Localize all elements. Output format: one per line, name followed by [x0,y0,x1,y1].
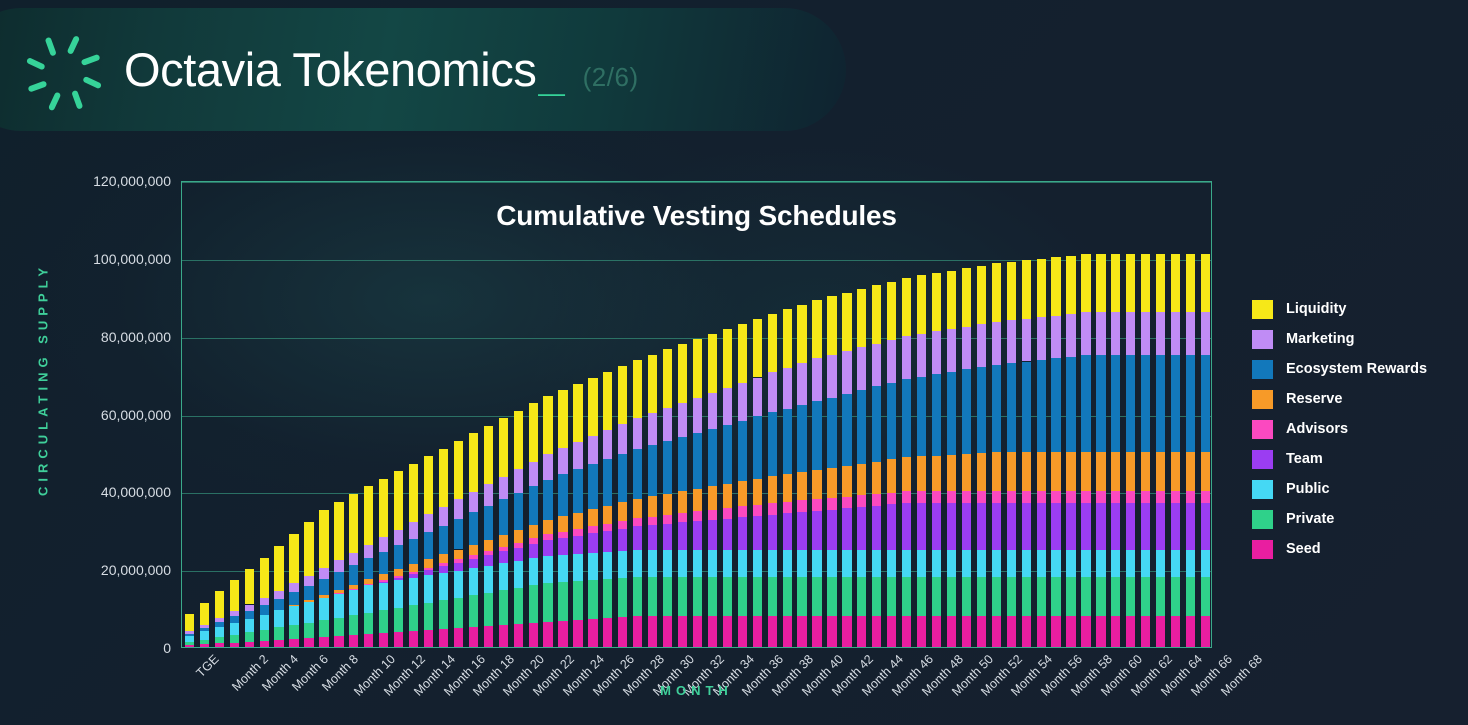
bar-segment [618,502,627,521]
bar-segment [1201,503,1210,550]
bar-segment [1156,616,1165,647]
bar-stack[interactable] [573,180,582,647]
bar-stack[interactable] [424,180,433,647]
bar-segment [1126,503,1135,550]
bar-segment [663,441,672,494]
bar-segment [1051,316,1060,359]
bar-segment [753,319,762,377]
bar-segment [424,630,433,647]
bar-segment [304,623,313,638]
legend-item[interactable]: Marketing [1252,324,1468,354]
bar-segment [768,372,777,412]
bar-segment [1186,550,1195,577]
bar-stack[interactable] [678,180,687,647]
bar-stack[interactable] [245,180,254,647]
bar-segment [812,358,821,401]
bar-segment [1007,363,1016,452]
bar-segment [783,577,792,616]
bar-stack[interactable] [529,180,538,647]
bar-segment [469,492,478,513]
bar-segment [394,580,403,607]
bar-segment [902,550,911,577]
bar-segment [1007,320,1016,363]
bar-segment [573,536,582,554]
bar-segment [319,598,328,620]
bar-segment [603,372,612,430]
bar-segment [364,634,373,647]
bar-segment [304,638,313,647]
bar-stack[interactable] [693,180,702,647]
bar-segment [200,640,209,645]
bar-segment [768,412,777,476]
bar-segment [693,398,702,433]
bar-segment [334,618,343,636]
bar-segment [289,639,298,647]
bar-segment [887,577,896,616]
bar-stack[interactable] [842,180,851,647]
bar-segment [708,577,717,616]
bar-segment [857,347,866,390]
bar-segment [992,503,1001,550]
bar-segment [185,636,194,643]
legend-item[interactable]: Liquidity [1252,294,1468,324]
bar-segment [1201,312,1210,355]
bar-segment [245,611,254,619]
bar-segment [543,556,552,583]
bar-segment [409,464,418,522]
bar-segment [783,368,792,409]
bar-segment [454,559,463,563]
bar-segment [1081,616,1090,647]
bar-stack[interactable] [1171,180,1180,647]
bar-stack[interactable] [827,180,836,647]
bar-segment [932,331,941,374]
bar-segment [274,599,283,610]
bar-stack[interactable] [857,180,866,647]
bar-segment [917,275,926,333]
bar-segment [484,551,493,555]
bar-stack[interactable] [304,180,313,647]
bar-segment [887,459,896,492]
bar-stack[interactable] [185,180,194,647]
bar-segment [394,545,403,569]
bar-segment [514,588,523,624]
bar-stack[interactable] [768,180,777,647]
bar-segment [872,506,881,550]
bar-segment [1111,550,1120,577]
bar-segment [1111,577,1120,616]
bar-segment [962,454,971,491]
bar-segment [1022,319,1031,362]
bar-segment [260,641,269,647]
bar-stack[interactable] [588,180,597,647]
bar-segment [693,550,702,577]
bar-segment [424,603,433,630]
bar-segment [394,632,403,647]
bar-segment [215,618,224,622]
legend-swatch [1252,420,1273,439]
bar-segment [618,578,627,617]
bar-segment [902,457,911,491]
bar-segment [1126,355,1135,452]
bar-segment [633,550,642,577]
bar-segment [454,499,463,519]
bar-stack[interactable] [215,180,224,647]
bar-segment [484,626,493,647]
bar-segment [1066,577,1075,616]
bar-stack[interactable] [783,180,792,647]
bar-segment [1186,616,1195,647]
bar-segment [603,618,612,647]
legend-item[interactable]: Team [1252,444,1468,474]
bar-stack[interactable] [618,180,627,647]
bar-segment [1111,503,1120,550]
bar-stack[interactable] [812,180,821,647]
bar-segment [379,479,388,537]
bar-segment [902,336,911,379]
bar-segment [1141,355,1150,452]
bar-segment [364,558,373,579]
bar-segment [1066,491,1075,503]
legend-item[interactable]: Advisors [1252,414,1468,444]
y-axis-tick-label: 60,000,000 [31,407,181,423]
bar-series-container [182,182,1211,647]
bar-segment [543,454,552,479]
bar-segment [1096,577,1105,616]
bar-stack[interactable] [558,180,567,647]
bar-segment [753,550,762,577]
bar-segment [185,645,194,647]
bar-segment [1066,503,1075,550]
bar-segment [200,631,209,640]
bar-segment [215,637,224,643]
bar-segment [409,578,418,605]
bar-segment [753,516,762,550]
bar-stack[interactable] [872,180,881,647]
bar-segment [753,616,762,647]
bar-segment [439,526,448,555]
slide-progress: (2/6) [583,62,639,93]
bar-segment [185,642,194,645]
bar-segment [558,582,567,621]
bar-segment [454,563,463,571]
bar-segment [1037,577,1046,616]
bar-stack[interactable] [633,180,642,647]
bar-stack[interactable] [753,180,762,647]
bar-segment [215,591,224,618]
bar-segment [558,555,567,582]
bar-segment [962,369,971,454]
bar-segment [902,491,911,503]
bar-stack[interactable] [469,180,478,647]
bar-segment [245,632,254,641]
bar-segment [1156,312,1165,355]
bar-stack[interactable] [349,180,358,647]
bar-stack[interactable] [977,180,986,647]
bar-segment [1081,452,1090,491]
bar-segment [842,351,851,394]
bar-segment [1007,491,1016,503]
bar-stack[interactable] [334,180,343,647]
bar-stack[interactable] [543,180,552,647]
bar-segment [499,625,508,647]
bar-stack[interactable] [409,180,418,647]
bar-segment [678,513,687,522]
bar-segment [289,625,298,639]
bar-segment [454,571,463,598]
bar-segment [200,628,209,632]
bar-segment [663,349,672,407]
bar-segment [1007,616,1016,647]
bar-segment [529,623,538,647]
bar-segment [439,629,448,647]
bar-segment [558,538,567,555]
bar-segment [902,379,911,457]
bar-stack[interactable] [708,180,717,647]
bar-segment [827,498,836,510]
bar-segment [1111,254,1120,312]
bar-segment [1066,314,1075,357]
bar-stack[interactable] [260,180,269,647]
bar-segment [304,576,313,586]
bar-segment [514,493,523,530]
bar-segment [872,386,881,461]
bar-segment [1156,491,1165,503]
bar-segment [439,566,448,572]
bar-segment [215,622,224,627]
bar-stack[interactable] [917,180,926,647]
bar-segment [797,616,806,647]
bar-segment [603,531,612,552]
bar-segment [364,579,373,584]
bar-segment [1201,254,1210,312]
bar-segment [349,635,358,647]
legend-item[interactable]: Private [1252,504,1468,534]
legend-item[interactable]: Reserve [1252,384,1468,414]
header-banner: Octavia Tokenomics _ (2/6) [0,8,846,131]
bar-segment [783,474,792,502]
bar-stack[interactable] [230,180,239,647]
bar-stack[interactable] [1007,180,1016,647]
bar-segment [1037,452,1046,491]
bar-segment [1066,616,1075,647]
legend-item[interactable]: Public [1252,474,1468,504]
bar-segment [678,522,687,549]
bar-stack[interactable] [603,180,612,647]
bar-stack[interactable] [364,180,373,647]
bar-segment [977,367,986,453]
bar-segment [1171,550,1180,577]
legend-item-label: Ecosystem Rewards [1286,361,1427,377]
bar-segment [289,606,298,625]
bar-stack[interactable] [319,180,328,647]
bar-stack[interactable] [992,180,1001,647]
bar-segment [678,403,687,437]
bar-segment [633,526,642,549]
bar-stack[interactable] [738,180,747,647]
bar-segment [1186,452,1195,491]
bar-segment [738,324,747,382]
bar-segment [693,616,702,647]
bar-segment [962,327,971,370]
bar-segment [842,508,851,550]
bar-segment [812,499,821,511]
bar-segment [603,579,612,618]
bar-segment [334,590,343,593]
bar-segment [289,605,298,606]
bar-segment [1081,550,1090,577]
legend-item-label: Marketing [1286,331,1355,347]
bar-stack[interactable] [200,180,209,647]
bar-segment [573,513,582,529]
bar-segment [648,550,657,577]
bar-segment [364,585,373,612]
bar-segment [319,595,328,597]
bar-stack[interactable] [723,180,732,647]
bar-stack[interactable] [1081,180,1090,647]
bar-segment [1022,616,1031,647]
bar-stack[interactable] [902,180,911,647]
bar-segment [723,616,732,647]
bar-stack[interactable] [1096,180,1105,647]
bar-stack[interactable] [797,180,806,647]
bar-stack[interactable] [1066,180,1075,647]
bar-stack[interactable] [454,180,463,647]
bar-stack[interactable] [887,180,896,647]
bar-segment [424,570,433,575]
bar-segment [1051,503,1060,550]
bar-stack[interactable] [1186,180,1195,647]
bar-segment [1126,491,1135,503]
bar-stack[interactable] [1111,180,1120,647]
bar-segment [1156,503,1165,550]
bar-segment [394,471,403,529]
bar-segment [484,555,493,565]
bar-segment [200,603,209,625]
bar-segment [529,585,538,622]
bar-segment [768,577,777,616]
bar-segment [932,550,941,577]
bar-segment [499,590,508,624]
bar-segment [529,558,538,585]
bar-segment [529,525,538,539]
bar-segment [633,577,642,616]
bar-segment [917,491,926,503]
bar-segment [379,610,388,633]
bar-stack[interactable] [1141,180,1150,647]
bar-stack[interactable] [1051,180,1060,647]
bar-stack[interactable] [484,180,493,647]
bar-segment [827,550,836,577]
bar-segment [1126,312,1135,355]
bar-segment [857,289,866,347]
bar-segment [1022,362,1031,453]
legend-item[interactable]: Seed [1252,534,1468,564]
bar-segment [678,491,687,513]
bar-segment [469,568,478,595]
bar-segment [1171,312,1180,355]
bar-segment [708,510,717,520]
bar-stack[interactable] [648,180,657,647]
bar-segment [319,620,328,637]
bar-stack[interactable] [379,180,388,647]
bar-segment [932,577,941,616]
bar-segment [1141,616,1150,647]
bar-stack[interactable] [1126,180,1135,647]
bar-segment [872,285,881,343]
bar-stack[interactable] [394,180,403,647]
bar-segment [439,563,448,566]
bar-segment [439,449,448,507]
bar-stack[interactable] [1022,180,1031,647]
bar-segment [1096,491,1105,503]
bar-stack[interactable] [1201,180,1210,647]
bar-stack[interactable] [947,180,956,647]
bar-segment [1096,355,1105,452]
bar-segment [977,550,986,577]
bar-stack[interactable] [932,180,941,647]
slide-root: Octavia Tokenomics _ (2/6) Cumulative Ve… [0,0,1468,725]
bar-segment [230,616,239,623]
bar-segment [424,568,433,571]
bar-segment [409,539,418,565]
bar-segment [663,577,672,616]
bar-segment [484,426,493,484]
bar-stack[interactable] [1037,180,1046,647]
bar-segment [977,616,986,647]
bar-segment [842,293,851,351]
bar-segment [364,584,373,585]
legend-item[interactable]: Ecosystem Rewards [1252,354,1468,384]
bar-stack[interactable] [289,180,298,647]
bar-stack[interactable] [514,180,523,647]
bar-segment [753,378,762,417]
bar-stack[interactable] [499,180,508,647]
bar-segment [230,643,239,648]
bar-segment [1051,358,1060,452]
bar-segment [992,491,1001,503]
bar-segment [379,552,388,575]
legend-item-label: Liquidity [1286,301,1346,317]
bar-segment [1007,262,1016,320]
bar-segment [917,377,926,457]
bar-segment [289,583,298,592]
bar-segment [992,550,1001,577]
bar-segment [573,554,582,581]
bar-segment [723,388,732,425]
bar-segment [708,393,717,429]
bar-segment [424,532,433,559]
bar-stack[interactable] [962,180,971,647]
bar-segment [827,577,836,616]
bar-segment [1141,491,1150,503]
bar-stack[interactable] [663,180,672,647]
bar-stack[interactable] [1156,180,1165,647]
bar-segment [469,512,478,544]
bar-segment [648,445,657,496]
bar-segment [289,592,298,605]
bar-segment [484,484,493,506]
bar-segment [1186,491,1195,503]
bar-stack[interactable] [439,180,448,647]
bar-segment [962,268,971,326]
bar-segment [1081,254,1090,312]
bar-segment [738,517,747,549]
bar-segment [379,574,388,580]
bar-segment [917,503,926,550]
bar-segment [932,503,941,550]
bar-stack[interactable] [274,180,283,647]
